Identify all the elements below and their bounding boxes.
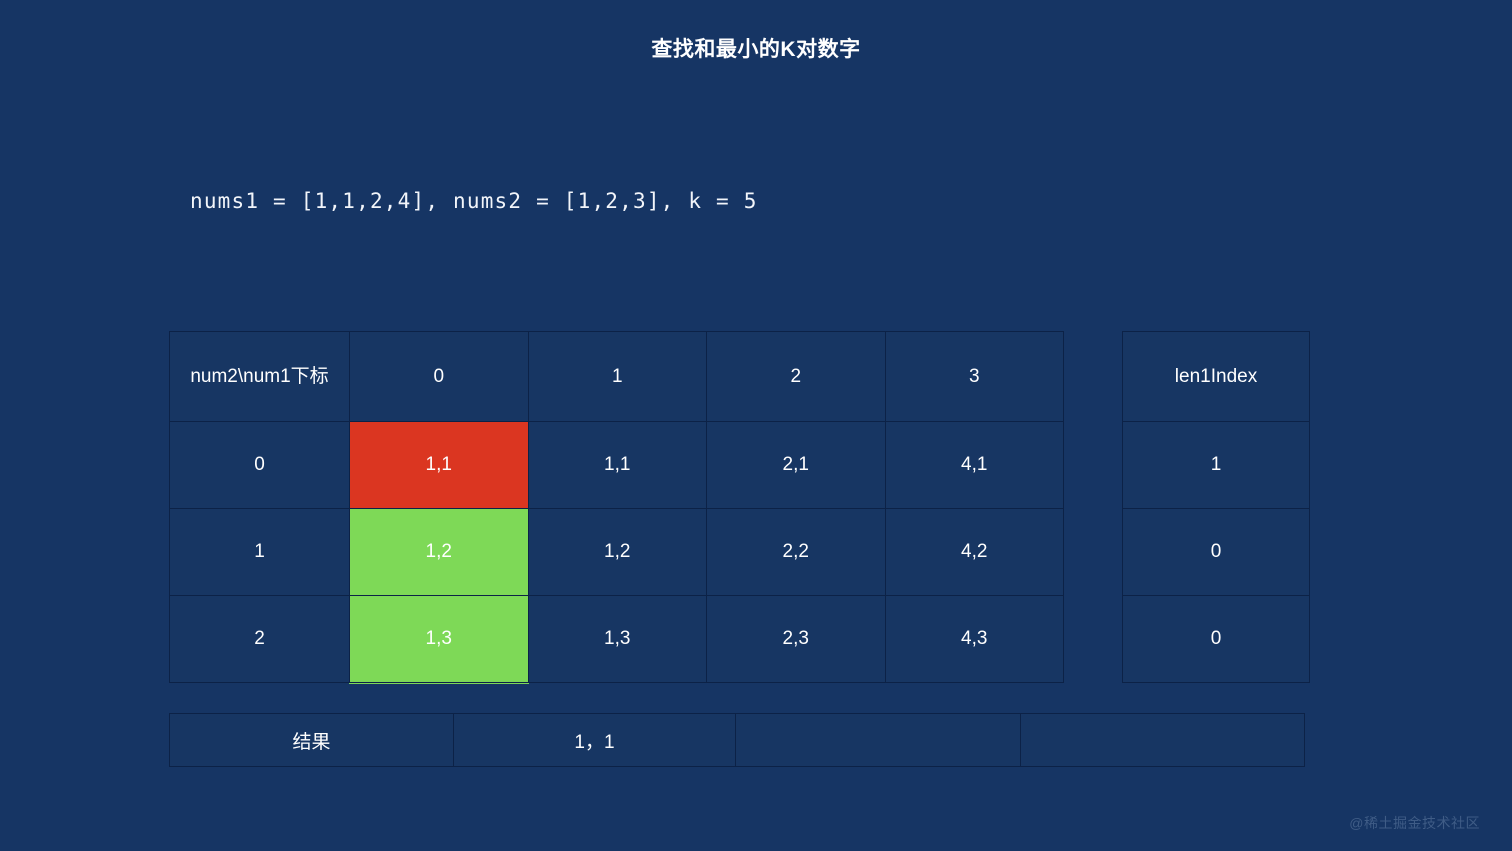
table-row: 2 1,3 1,3 2,3 4,3 <box>170 596 1064 683</box>
cell-r0-c3: 4,1 <box>885 422 1064 509</box>
result-empty-cell-2 <box>1021 714 1305 767</box>
corner-header-cell: num2\num1下标 <box>170 332 350 422</box>
result-table: 结果 1，1 <box>169 713 1305 767</box>
page-title: 查找和最小的K对数字 <box>0 33 1512 63</box>
result-value: 1，1 <box>454 714 736 767</box>
column-header-2: 2 <box>707 332 886 422</box>
cell-r2-c1: 1,3 <box>528 596 707 683</box>
column-header-0: 0 <box>350 332 529 422</box>
table-header-row: num2\num1下标 0 1 2 3 <box>170 332 1064 422</box>
dp-grid-table: num2\num1下标 0 1 2 3 0 1,1 1,1 2,1 4,1 1 … <box>169 331 1064 683</box>
cell-r0-c1: 1,1 <box>528 422 707 509</box>
len1index-table: len1Index 1 0 0 <box>1122 331 1310 683</box>
result-row: 结果 1，1 <box>170 714 1305 767</box>
column-header-3: 3 <box>885 332 1064 422</box>
result-label: 结果 <box>170 714 454 767</box>
len1index-header: len1Index <box>1123 332 1310 422</box>
table-row: 0 1,1 1,1 2,1 4,1 <box>170 422 1064 509</box>
row-header-0: 0 <box>170 422 350 509</box>
len1index-value-2: 0 <box>1123 596 1310 683</box>
slide-canvas: 查找和最小的K对数字 nums1 = [1,1,2,4], nums2 = [1… <box>0 0 1512 851</box>
len1index-value-1: 0 <box>1123 509 1310 596</box>
row-header-2: 2 <box>170 596 350 683</box>
cell-r0-c2: 2,1 <box>707 422 886 509</box>
cell-r2-c0: 1,3 <box>350 596 529 683</box>
len1index-value-0: 1 <box>1123 422 1310 509</box>
cell-r2-c2: 2,3 <box>707 596 886 683</box>
cell-r1-c2: 2,2 <box>707 509 886 596</box>
table-header-row: len1Index <box>1123 332 1310 422</box>
column-header-1: 1 <box>528 332 707 422</box>
table-row: 0 <box>1123 596 1310 683</box>
cell-r2-c3: 4,3 <box>885 596 1064 683</box>
result-empty-cell-1 <box>736 714 1021 767</box>
cell-r1-c1: 1,2 <box>528 509 707 596</box>
watermark: @稀土掘金技术社区 <box>1349 813 1480 833</box>
table-row: 0 <box>1123 509 1310 596</box>
table-row: 1 <box>1123 422 1310 509</box>
table-row: 1 1,2 1,2 2,2 4,2 <box>170 509 1064 596</box>
row-header-1: 1 <box>170 509 350 596</box>
params-expression: nums1 = [1,1,2,4], nums2 = [1,2,3], k = … <box>190 189 758 213</box>
cell-r1-c3: 4,2 <box>885 509 1064 596</box>
cell-r0-c0: 1,1 <box>350 422 529 509</box>
cell-r1-c0: 1,2 <box>350 509 529 596</box>
